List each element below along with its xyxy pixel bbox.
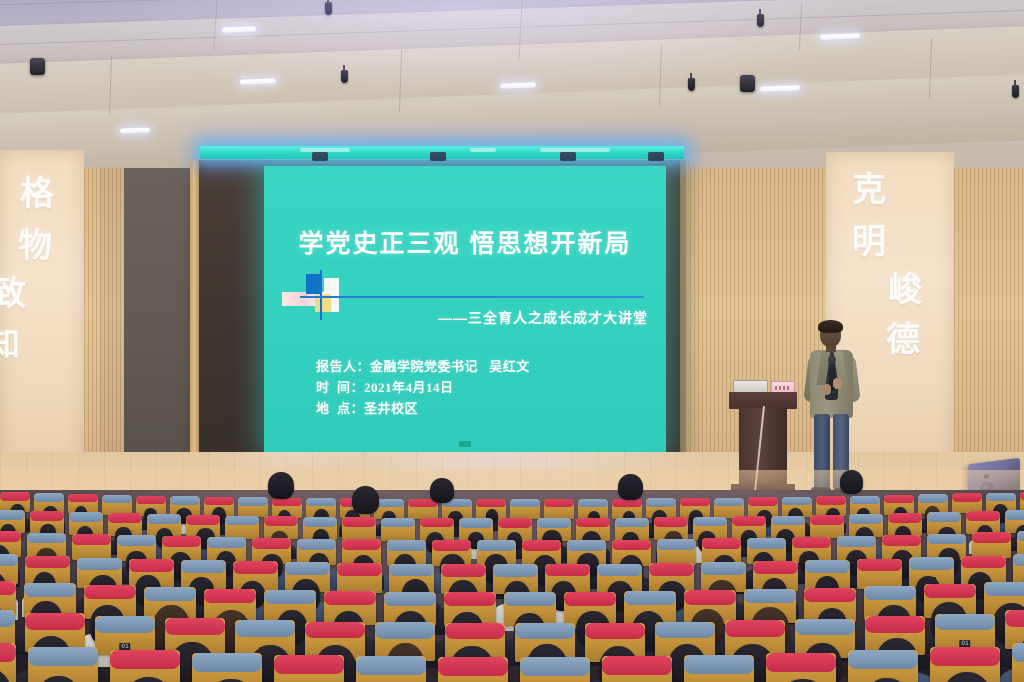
seat-cushion [0,492,30,500]
auditorium-seat [72,534,111,560]
calligraphy-char: 知 [0,328,20,360]
seat-cushion [0,610,15,626]
seat-cushion [25,556,70,569]
podium[interactable] [735,392,791,495]
seat-cushion [952,493,982,501]
seat-cushion [0,581,16,595]
seat-cushion [381,518,415,528]
ceiling-spotlight-icon [688,78,695,91]
calligraphy-char: 格 [20,178,54,212]
seat-cushion [432,540,471,551]
seat-cushion [144,587,196,601]
seat-cushion [805,560,850,573]
seat-cushion [884,495,914,503]
slide-subtitle: ——三全育人之成长成才大讲堂 [438,308,648,328]
slide-info-block: 报告人：金融学院党委书记 吴红文 时 间：2021年4月14日 地 点：圣井校区 [316,356,530,419]
seat-cushion [264,516,298,526]
seat-cushion [375,622,435,638]
seat-cushion [747,538,786,549]
seat-cushion [170,496,200,504]
seat-cushion [389,564,434,577]
seat-cushion [68,494,98,502]
seat-cushion [477,540,516,551]
seat-cushion [602,656,672,675]
seat-cushion [918,494,948,502]
auditorium-seat [657,539,696,565]
seat-cushion [117,535,156,546]
seat-cushion [162,536,201,547]
slide-bottom-marker [459,441,471,447]
seat-cushion [192,653,262,672]
led-bar-fixture [430,152,446,161]
seat-cushion [225,516,259,526]
seat-cushion [72,534,111,545]
seat-cushion [342,539,381,550]
seat-cushion [204,589,256,603]
seat-cushion [515,623,575,639]
seat-cushion [520,657,590,676]
seat-cushion [324,591,376,605]
audience-member-head [352,486,379,514]
seat-cushion [578,499,608,507]
seat-cushion [864,586,916,600]
seat-cushion [264,590,316,604]
speaker-tweeter-icon [984,474,989,480]
seat-cushion [927,534,966,545]
calligraphy-char: 明 [852,226,886,260]
seat-cushion [233,561,278,574]
seat-cushion [782,497,812,505]
seat-cushion [438,657,508,676]
led-bar-highlight [300,148,350,152]
seat-cushion [342,517,376,527]
seat-cushion [612,540,651,551]
seat-cushion [680,498,710,506]
seat-cushion [285,562,330,575]
seat-cushion [165,618,225,634]
calligraphy-char: 致 [0,278,26,312]
seat-cushion [147,514,181,524]
glasses-icon [820,331,841,336]
seat-cushion [732,516,766,526]
seat-cushion [110,650,180,669]
seat-cushion [459,518,493,528]
seat-cushion [1017,531,1024,542]
seat-cushion [238,497,268,505]
seat-cushion [544,499,574,507]
seat-cushion [476,499,506,507]
seat-cushion [585,623,645,639]
auditorium-seat [381,518,415,541]
seat-cushion [684,655,754,674]
slide-logo-motif [288,274,354,316]
seat-cushion [25,613,85,629]
auditorium-seat [544,499,574,519]
auditorium-seat [1017,531,1024,557]
seat-cushion [972,532,1011,543]
seat-cushion [207,537,246,548]
ceiling-speaker-icon [30,58,45,75]
motif-blue-square [306,274,321,294]
seat-cushion [655,622,715,638]
ceiling-spotlight-icon [341,70,348,83]
seat-cushion [303,517,337,527]
seat-cushion [930,647,1000,666]
led-bar-fixture [648,152,664,161]
audience-member-head [430,478,454,503]
seat-cushion [204,497,234,505]
led-bar-fixture [312,152,328,161]
seat-cushion [702,538,741,549]
seat-cushion [848,650,918,669]
seat-cushion [252,538,291,549]
seat-cushion [865,616,925,632]
seat-cushion [306,498,336,506]
seat-cushion [986,493,1016,501]
seat-cushion [498,518,532,528]
seat-cushion [69,512,103,522]
seat-cushion [909,557,954,570]
presenter-leg-left [814,414,830,490]
seat-cushion [493,564,538,577]
calligraphy-char: 峻 [888,274,922,308]
auditorium-seat [225,516,259,539]
seat-cushion [235,620,295,636]
seat-cushion [1005,510,1024,520]
wood-slat-panel-left-inner [96,168,124,486]
audience-seating: 0101010101010101010101010101010101010101… [0,490,1024,682]
seat-cushion [935,614,995,630]
presenter-hand-right [833,378,842,389]
auditorium-seat [684,655,754,682]
seat-cushion [510,499,540,507]
auditorium-seat [1020,492,1024,512]
seat-cushion [27,533,66,544]
seat-cushion [684,590,736,604]
seat-cushion [0,510,25,520]
calligraphy-banner-left: 格 物 致 知 [0,150,84,480]
auditorium-seat [972,532,1011,558]
seat-cushion [816,496,846,504]
seat-cushion [0,531,21,542]
ceiling-speaker-icon [740,75,755,92]
led-bar-fixture [560,152,576,161]
seat-cushion [984,582,1024,596]
ceiling-spotlight-icon [325,2,332,15]
seat-cushion [84,585,136,599]
seat-cushion [30,511,64,521]
seat-cushion [654,517,688,527]
auditorium-seat [337,563,382,593]
seat-cushion [624,591,676,605]
auditorium-seat [714,498,744,518]
seat-cushion [701,562,746,575]
led-bar-highlight [540,148,610,152]
seat-cushion [924,584,976,598]
seat-cushion [693,517,727,527]
seat-cushion [857,559,902,572]
seat-cushion [714,498,744,506]
auditorium-seat: 01 [602,656,672,682]
seat-cushion [753,561,798,574]
calligraphy-char: 德 [886,324,920,358]
audience-member-head [618,474,643,500]
seat-cushion [771,516,805,526]
seat-cushion [0,643,16,662]
seat-cushion [646,498,676,506]
seat-cushion [961,556,1006,569]
screen-frame-trim-right [680,160,689,462]
seat-cushion [725,620,785,636]
seat-cushion [766,653,836,672]
seat-cushion [504,592,556,606]
seat-cushion [744,589,796,603]
seat-cushion [129,559,174,572]
seat-cushion [649,563,694,576]
seat-cushion [297,539,336,550]
seat-cushion [186,515,220,525]
seat-cushion [108,513,142,523]
seat-cushion [888,513,922,523]
seat-cushion [792,537,831,548]
seat-cushion [305,622,365,638]
auditorium-seat: 01 [438,657,508,682]
seat-cushion [420,518,454,528]
auditorium-seat [408,499,438,519]
audience-member-head [268,472,294,499]
seat-cushion [545,564,590,577]
auditorium-seat [356,656,426,682]
seat-cushion [597,564,642,577]
auditorium-seat [810,515,844,538]
led-bar-highlight [470,148,496,152]
seat-cushion [615,518,649,528]
auditorium-seat: 01 [95,616,155,655]
slide-title: 学党史正三观 悟思想开新局 [264,224,666,260]
seat-cushion [1005,610,1024,626]
seat-cushion [356,656,426,675]
seat-cushion [576,518,610,528]
seat-cushion [444,592,496,606]
seat-cushion [77,558,122,571]
ceiling-strip-light [120,127,150,133]
seat-cushion [537,518,571,528]
seat-cushion [564,592,616,606]
seat-cushion [95,616,155,632]
seat-cushion [748,497,778,505]
seat-cushion [445,623,505,639]
seat-cushion [837,536,876,547]
ceiling-spotlight-icon [1012,85,1019,98]
seat-cushion [804,588,856,602]
calligraphy-char: 克 [852,174,886,208]
seat-cushion [1013,554,1024,567]
seat-cushion [274,655,344,674]
seat-cushion [795,619,855,635]
seat-cushion [966,511,1000,521]
motif-vertical-line [320,270,322,320]
seat-cushion [34,493,64,501]
slide-horizontal-rule [300,296,644,298]
seat-cushion [136,496,166,504]
projection-screen[interactable]: 学党史正三观 悟思想开新局 ——三全育人之成长成才大讲堂 报告人：金融学院党委书… [264,166,666,452]
seat-cushion [28,647,98,666]
seat-cushion [181,560,226,573]
seat-cushion [1020,492,1024,500]
ceiling-spotlight-icon [757,14,764,27]
seat-cushion [849,514,883,524]
auditorium-seat: 01 [1013,554,1024,584]
seat-cushion [24,583,76,597]
auditorium-seat [510,499,540,519]
seat-cushion [567,540,606,551]
seat-cushion [927,512,961,522]
auditorium-seat [238,497,268,517]
presenter-hand-left [822,384,831,395]
auditorium-seat [192,653,262,682]
seat-cushion [850,496,880,504]
seat-cushion [522,540,561,551]
auditorium-seat [520,657,590,682]
seat-cushion [384,592,436,606]
seat-cushion [1012,643,1024,662]
auditorium-seat [102,495,132,515]
auditorium-seat [857,559,902,589]
auditorium-seat [342,517,376,540]
auditorium-seat: 01 [766,653,836,682]
auditorium-seat: 01 [274,655,344,682]
screen-frame-trim-left [190,160,199,462]
seat-cushion [387,540,426,551]
seat-cushion [882,535,921,546]
seat-cushion [102,495,132,503]
seat-cushion [810,515,844,525]
auditorium-seat [1012,643,1024,682]
seat-cushion [337,563,382,576]
auditorium-photo: 格 物 致 知 克 明 峻 德 学党史正三观 悟思想开新局 ——三全育人之成长成… [0,0,1024,682]
seat-cushion [0,554,18,567]
audience-member-head [840,470,863,494]
seat-cushion [657,539,696,550]
seat-cushion [441,564,486,577]
calligraphy-char: 物 [18,230,52,264]
